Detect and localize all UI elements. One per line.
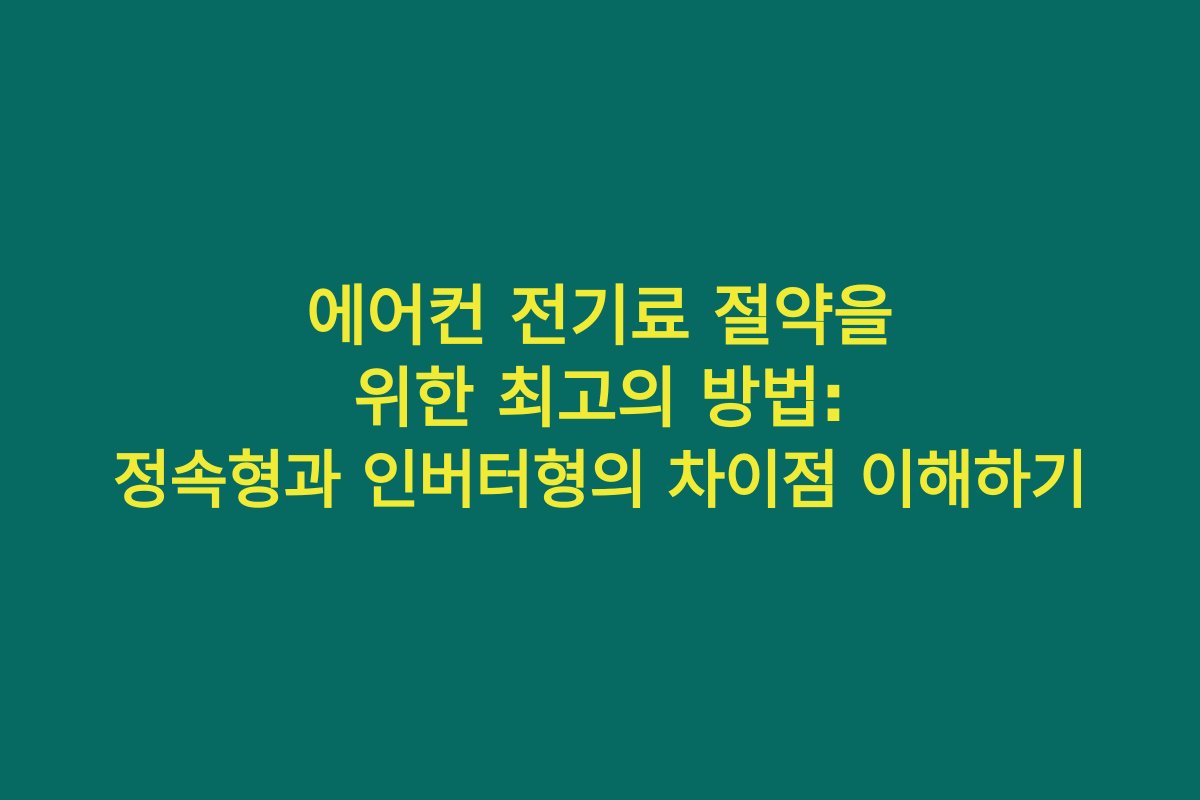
banner-canvas: 에어컨 전기료 절약을 위한 최고의 방법: 정속형과 인버터형의 차이점 이해… [0,0,1200,800]
page-title: 에어컨 전기료 절약을 위한 최고의 방법: 정속형과 인버터형의 차이점 이해… [0,276,1200,522]
title-line-3: 정속형과 인버터형의 차이점 이해하기 [12,440,1188,522]
title-line-2: 위한 최고의 방법: [12,358,1188,440]
title-line-1: 에어컨 전기료 절약을 [12,276,1188,358]
